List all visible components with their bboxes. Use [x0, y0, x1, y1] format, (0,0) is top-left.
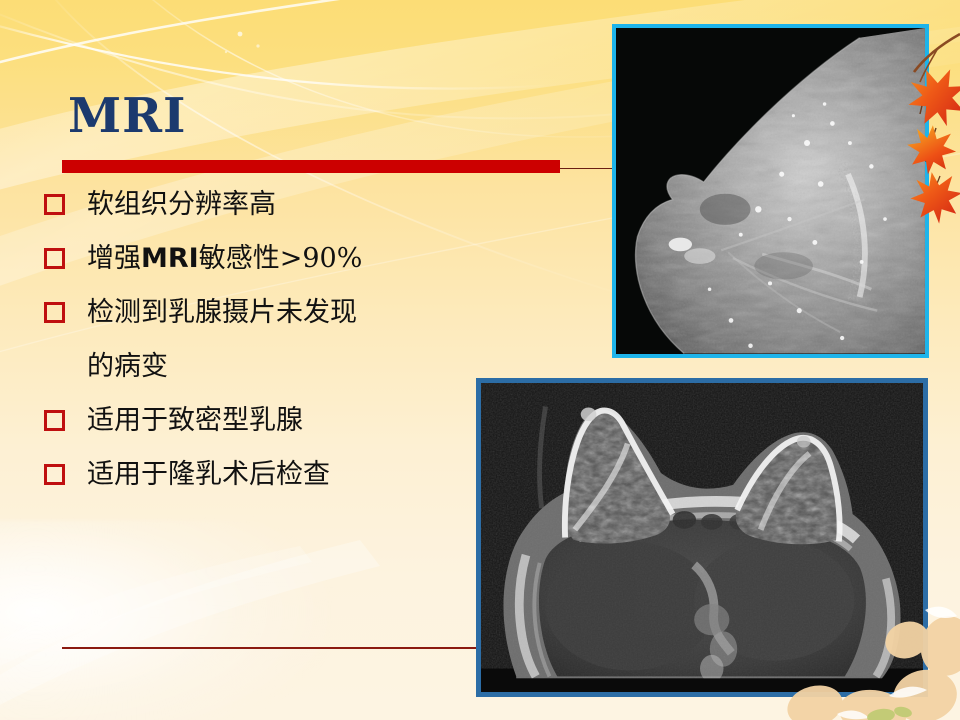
- title-accent-bar: [62, 160, 560, 173]
- list-item: 适用于致密型乳腺: [44, 402, 474, 440]
- checkbox-square-icon: [44, 464, 65, 485]
- light-bloom-decoration: [0, 520, 330, 720]
- list-item-label: 软组织分辨率高: [87, 186, 276, 224]
- list-item-continuation: 的病变: [44, 348, 474, 386]
- list-item-label: 增强MRI敏感性>90%: [87, 240, 362, 278]
- list-item: 软组织分辨率高: [44, 186, 474, 224]
- checkbox-square-icon: [44, 194, 65, 215]
- page-title: MRI: [68, 92, 186, 140]
- slide-canvas: MRI 软组织分辨率高 增强MRI敏感性>90% 检测到乳腺摄片未发现 的病变 …: [0, 0, 960, 720]
- checkbox-square-icon: [44, 410, 65, 431]
- checkbox-square-icon: [44, 248, 65, 269]
- bullet-spacer: [44, 356, 65, 377]
- bullet-list: 软组织分辨率高 增强MRI敏感性>90% 检测到乳腺摄片未发现 的病变 适用于致…: [44, 186, 474, 510]
- axial-breast-mri-image: [476, 378, 928, 697]
- list-item-label: 的病变: [87, 348, 168, 386]
- list-item-label: 适用于致密型乳腺: [87, 402, 303, 440]
- checkbox-square-icon: [44, 302, 65, 323]
- list-item: 适用于隆乳术后检查: [44, 456, 474, 494]
- sagittal-breast-mri-image: [612, 24, 929, 358]
- list-item-label: 适用于隆乳术后检查: [87, 456, 330, 494]
- list-item-label: 检测到乳腺摄片未发现: [87, 294, 357, 332]
- list-item: 检测到乳腺摄片未发现: [44, 294, 474, 332]
- footer-hairline: [62, 647, 476, 649]
- list-item: 增强MRI敏感性>90%: [44, 240, 474, 278]
